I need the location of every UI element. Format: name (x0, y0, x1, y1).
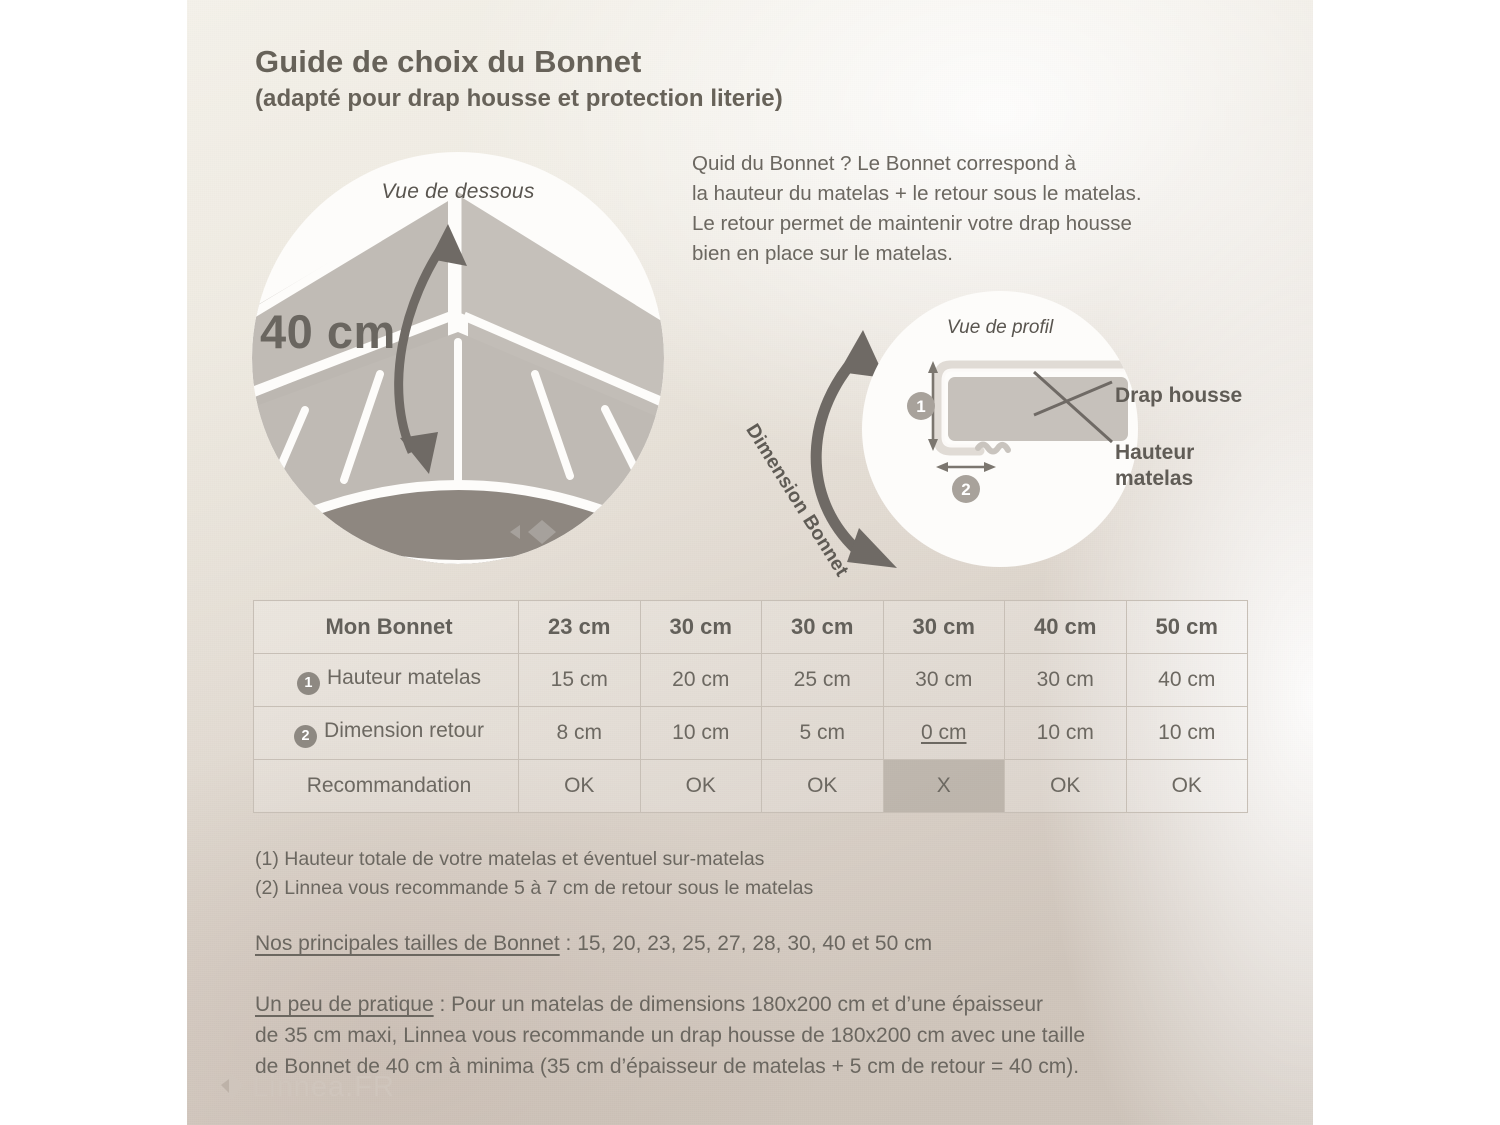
table-row: 2Dimension retour 8 cm 10 cm 5 cm 0 cm 1… (254, 707, 1248, 760)
intro-line-3: Le retour permet de maintenir votre drap… (692, 209, 1262, 239)
bonnet-table-wrapper: Mon Bonnet 23 cm 30 cm 30 cm 30 cm 40 cm… (253, 600, 1248, 813)
svg-text:1: 1 (916, 397, 925, 416)
practical-example-line-1: Un peu de pratique : Pour un matelas de … (255, 989, 1265, 1020)
intro-line-2: la hauteur du matelas + le retour sous l… (692, 179, 1262, 209)
cell-reco-6: OK (1126, 760, 1248, 813)
available-sizes-title: Nos principales tailles de Bonnet (255, 932, 560, 955)
page-title: Guide de choix du Bonnet (255, 44, 1075, 81)
practical-example-text-1: : Pour un matelas de dimensions 180x200 … (434, 993, 1043, 1016)
available-sizes-line: Nos principales tailles de Bonnet : 15, … (255, 929, 1265, 959)
cell-hauteur-6: 40 cm (1126, 654, 1248, 707)
row-label-text: Dimension retour (324, 719, 484, 742)
table-row: 1Hauteur matelas 15 cm 20 cm 25 cm 30 cm… (254, 654, 1248, 707)
practical-example-line-2: de 35 cm maxi, Linnea vous recommande un… (255, 1020, 1265, 1051)
table-header-mon-bonnet: Mon Bonnet (254, 601, 519, 654)
infographic-root: Guide de choix du Bonnet (adapté pour dr… (0, 0, 1500, 1125)
diagram-bottom-view: Vue de dessous 40 cm (252, 152, 664, 564)
callout-hauteur-matelas: Hauteur matelas (1115, 440, 1194, 492)
row-label-recommandation: Recommandation (254, 760, 519, 813)
callout-hauteur-line-1: Hauteur (1115, 441, 1194, 464)
row-label-hauteur-matelas: 1Hauteur matelas (254, 654, 519, 707)
cell-retour-2: 10 cm (640, 707, 762, 760)
table-header-col-2: 30 cm (640, 601, 762, 654)
table-header-col-6: 50 cm (1126, 601, 1248, 654)
row-label-text: Hauteur matelas (327, 666, 481, 689)
linnea-logo-text: Linnea.FR (252, 1071, 395, 1104)
cell-retour-1: 8 cm (519, 707, 641, 760)
cell-hauteur-2: 20 cm (640, 654, 762, 707)
cell-reco-5: OK (1005, 760, 1127, 813)
footnote-1: (1) Hauteur totale de votre matelas et é… (255, 845, 1265, 874)
cell-retour-3: 5 cm (762, 707, 884, 760)
badge-2: 2 (294, 725, 317, 748)
bonnet-measure-value: 40 cm (260, 304, 396, 359)
cell-retour-4: 0 cm (883, 707, 1005, 760)
table-header-col-5: 40 cm (1005, 601, 1127, 654)
practical-example-title: Un peu de pratique (255, 993, 434, 1016)
linnea-diamond-icon (212, 1070, 252, 1104)
notes-block: (1) Hauteur totale de votre matelas et é… (255, 845, 1265, 1082)
cell-hauteur-4: 30 cm (883, 654, 1005, 707)
callout-hauteur-line-2: matelas (1115, 467, 1193, 490)
table-row: Recommandation OK OK OK X OK OK (254, 760, 1248, 813)
svg-text:2: 2 (961, 480, 970, 499)
profile-view-label: Vue de profil (862, 317, 1138, 339)
practical-example-block: Un peu de pratique : Pour un matelas de … (255, 989, 1265, 1082)
footnote-2: (2) Linnea vous recommande 5 à 7 cm de r… (255, 874, 1265, 903)
cell-hauteur-3: 25 cm (762, 654, 884, 707)
cell-retour-5: 10 cm (1005, 707, 1127, 760)
cell-reco-1: OK (519, 760, 641, 813)
linnea-logo[interactable]: Linnea.FR (212, 1070, 395, 1104)
practical-example-line-3: de Bonnet de 40 cm à minima (35 cm d’épa… (255, 1051, 1265, 1082)
page-subtitle: (adapté pour drap housse et protection l… (255, 85, 1075, 114)
badge-1: 1 (297, 672, 320, 695)
cell-reco-3: OK (762, 760, 884, 813)
callout-drap-housse: Drap housse (1115, 383, 1242, 409)
title-block: Guide de choix du Bonnet (adapté pour dr… (255, 44, 1075, 113)
table-header-col-4: 30 cm (883, 601, 1005, 654)
intro-line-4: bien en place sur le matelas. (692, 239, 1262, 269)
table-header-col-1: 23 cm (519, 601, 641, 654)
cell-retour-6: 10 cm (1126, 707, 1248, 760)
table-header-col-3: 30 cm (762, 601, 884, 654)
cell-hauteur-1: 15 cm (519, 654, 641, 707)
cell-retour-4-value: 0 cm (921, 721, 967, 744)
table-header-row: Mon Bonnet 23 cm 30 cm 30 cm 30 cm 40 cm… (254, 601, 1248, 654)
bonnet-recommendation-table: Mon Bonnet 23 cm 30 cm 30 cm 30 cm 40 cm… (253, 600, 1248, 813)
bottom-view-label: Vue de dessous (252, 180, 664, 204)
cell-reco-2: OK (640, 760, 762, 813)
cell-reco-4: X (883, 760, 1005, 813)
cell-hauteur-5: 30 cm (1005, 654, 1127, 707)
row-label-dimension-retour: 2Dimension retour (254, 707, 519, 760)
intro-paragraph: Quid du Bonnet ? Le Bonnet correspond à … (692, 149, 1262, 269)
available-sizes-value: : 15, 20, 23, 25, 27, 28, 30, 40 et 50 c… (560, 932, 932, 955)
intro-line-1: Quid du Bonnet ? Le Bonnet correspond à (692, 149, 1262, 179)
